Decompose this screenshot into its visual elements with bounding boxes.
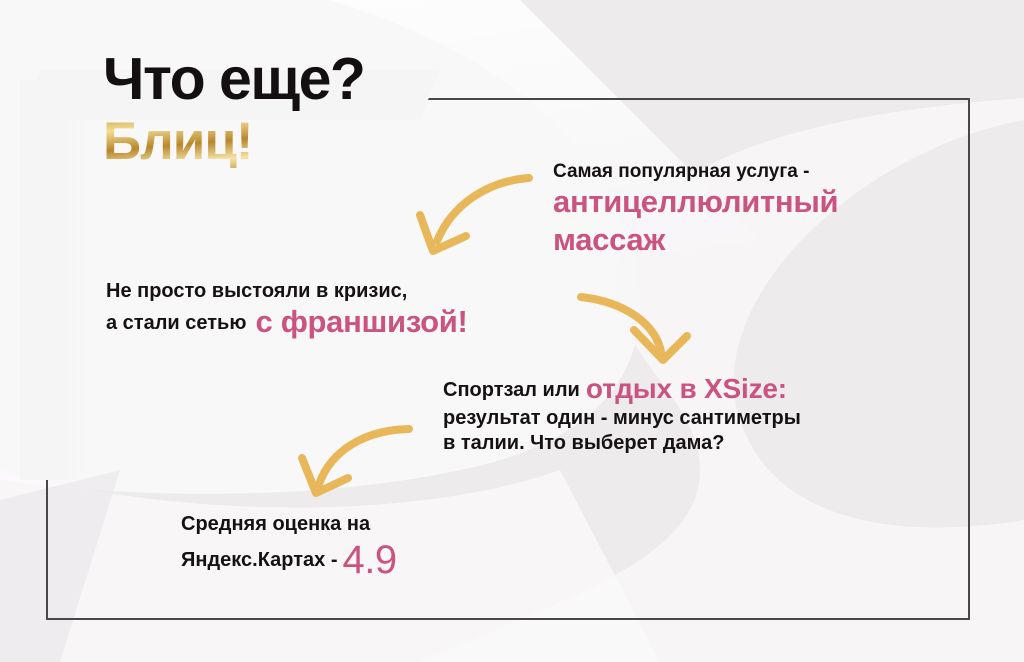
headline-group: Что еще? Блиц! xyxy=(103,50,364,168)
rating-line2-text: Яндекс.Картах - xyxy=(181,549,337,571)
gym-line1-text: Спортзал или xyxy=(443,379,580,401)
block-yandex-rating: Средняя оценка на Яндекс.Картах -4.9 xyxy=(181,512,397,585)
gym-line3: в талии. Что выберет дама? xyxy=(443,431,801,455)
infographic-slide: Что еще? Блиц! Самая популярная услуга -… xyxy=(0,0,1024,662)
headline-main-title: Что еще? xyxy=(103,50,364,109)
crisis-line1: Не просто выстояли в кризис, xyxy=(106,279,468,303)
gym-line2: результат один - минус сантиметры xyxy=(443,406,801,430)
franchise-emphasis: с франшизой! xyxy=(246,304,467,339)
crisis-line2: а стали сетьюс франшизой! xyxy=(106,303,468,341)
headline-sub-title: Блиц! xyxy=(103,115,364,168)
popular-service-value-line2: массаж xyxy=(553,221,838,259)
popular-service-value-line1: антицеллюлитный xyxy=(553,183,838,221)
rating-line2: Яндекс.Картах -4.9 xyxy=(181,536,397,585)
popular-service-label: Самая популярная услуга - xyxy=(553,160,838,183)
crisis-line2-text: а стали сетью xyxy=(106,312,246,334)
frame-mask-left xyxy=(20,80,90,480)
block-crisis-franchise: Не просто выстояли в кризис, а стали сет… xyxy=(106,279,468,341)
xsize-emphasis: отдых в XSize: xyxy=(580,373,787,404)
rating-line1: Средняя оценка на xyxy=(181,512,397,536)
rating-score-value: 4.9 xyxy=(337,538,396,582)
block-popular-service: Самая популярная услуга - антицеллюлитны… xyxy=(553,160,838,259)
gym-line1: Спортзал илиотдых в XSize: xyxy=(443,372,801,406)
block-gym-or-xsize: Спортзал илиотдых в XSize: результат оди… xyxy=(443,372,801,455)
